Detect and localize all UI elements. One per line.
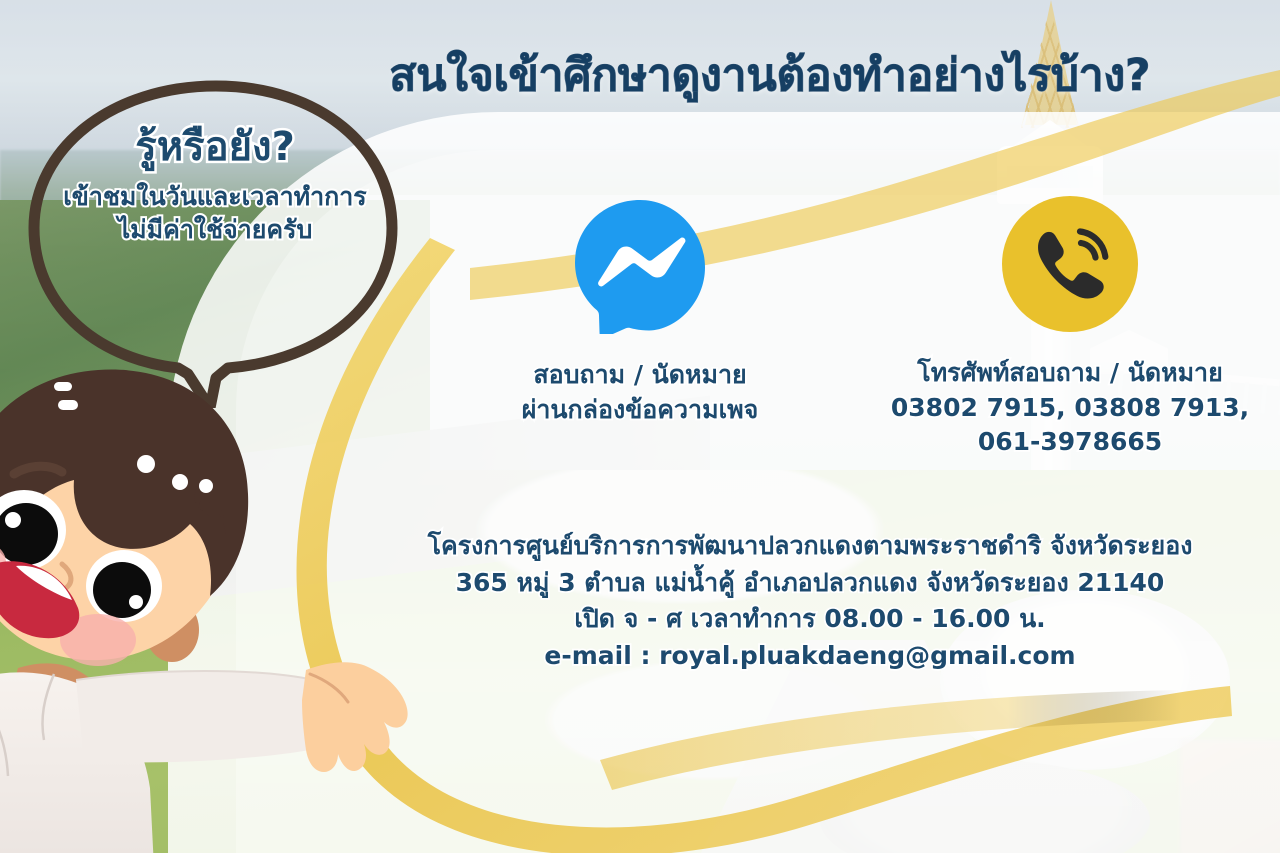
speech-bubble: รู้หรือยัง? เข้าชมในวันและเวลาทำการ ไม่ม… (20, 78, 410, 408)
contact-messenger[interactable]: สอบถาม / นัดหมาย ผ่านกล่องข้อความเพจ (430, 196, 850, 427)
boy-hair-shine-2 (58, 400, 78, 410)
boy-eye-right (86, 550, 162, 622)
contact-methods-row: สอบถาม / นัดหมาย ผ่านกล่องข้อความเพจ โทร… (430, 196, 1280, 476)
messenger-label-line-1: สอบถาม / นัดหมาย (430, 358, 850, 393)
organization-name: โครงการศูนย์บริการการพัฒนาปลวกแดงตามพระร… (360, 528, 1260, 565)
opening-hours: เปิด จ - ศ เวลาทำการ 08.00 - 16.00 น. (360, 601, 1260, 638)
phone-icon[interactable] (1002, 196, 1138, 332)
street-address: 365 หมู่ 3 ตำบล แม่น้ำคู้ อำเภอปลวกแดง จ… (360, 565, 1260, 602)
cartoon-boy-illustration (0, 368, 428, 853)
speech-bubble-line-2: ไม่มีค่าใช้จ่ายครับ (20, 213, 410, 246)
boy-hair-shine-1 (54, 382, 72, 391)
telephone-label-line-1: โทรศัพท์สอบถาม / นัดหมาย (860, 356, 1280, 391)
boy-sleeve (76, 671, 314, 762)
page-headline: สนใจเข้าศึกษาดูงานต้องทำอย่างไรบ้าง? (300, 52, 1240, 100)
contact-telephone[interactable]: โทรศัพท์สอบถาม / นัดหมาย 03802 7915, 038… (860, 196, 1280, 460)
boy-hair-shine-4 (172, 474, 188, 490)
address-block: โครงการศูนย์บริการการพัฒนาปลวกแดงตามพระร… (360, 528, 1260, 674)
boy-hair-shine-5 (199, 479, 213, 493)
speech-bubble-line-1: เข้าชมในวันและเวลาทำการ (20, 180, 410, 213)
messenger-icon[interactable] (571, 196, 709, 334)
speech-bubble-title: รู้หรือยัง? (20, 124, 410, 170)
speech-bubble-content: รู้หรือยัง? เข้าชมในวันและเวลาทำการ ไม่ม… (20, 124, 410, 246)
messenger-label-line-2: ผ่านกล่องข้อความเพจ (430, 393, 850, 428)
email-address[interactable]: e-mail : royal.pluakdaeng@gmail.com (360, 638, 1260, 675)
telephone-label: โทรศัพท์สอบถาม / นัดหมาย 03802 7915, 038… (860, 356, 1280, 460)
telephone-number-line-1[interactable]: 03802 7915, 03808 7913, (860, 391, 1280, 426)
telephone-number-line-2[interactable]: 061-3978665 (860, 425, 1280, 460)
messenger-label: สอบถาม / นัดหมาย ผ่านกล่องข้อความเพจ (430, 358, 850, 427)
boy-hair-shine-3 (137, 455, 155, 473)
poster-canvas: สนใจเข้าศึกษาดูงานต้องทำอย่างไรบ้าง? รู้… (0, 0, 1280, 853)
